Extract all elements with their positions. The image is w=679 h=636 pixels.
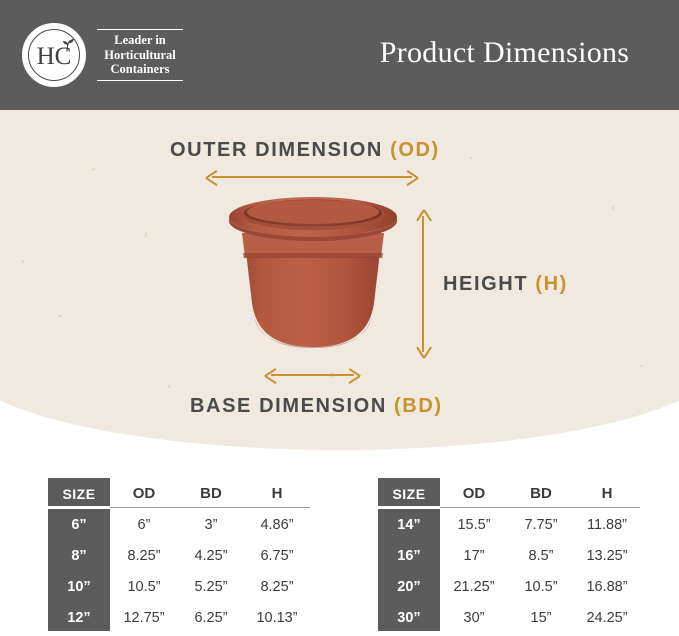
column-header-size: SIZE <box>378 478 440 509</box>
column-header-h: H <box>574 478 640 509</box>
table-cell-bd: 5.25” <box>178 571 244 602</box>
table-cell-h: 13.25” <box>574 540 640 571</box>
height-label: HEIGHT (H) <box>443 273 568 296</box>
size-column-header-rule <box>378 506 440 509</box>
table-cell-bd: 15” <box>508 602 574 633</box>
height-arrow <box>416 210 430 358</box>
header-bar: HC Leader in Horticultural Containers Pr… <box>0 0 679 110</box>
outer-dimension-arrow <box>206 170 418 184</box>
table-cell-od: 17” <box>440 540 508 571</box>
base-dimension-text: BASE DIMENSION <box>190 395 387 417</box>
logo-circle-icon: HC <box>22 23 86 87</box>
table-cell-od: 15.5” <box>440 509 508 540</box>
table-row: 6” <box>48 509 110 540</box>
planter-illustration <box>222 195 406 371</box>
table-row: 12” <box>48 602 110 633</box>
table-cell-h: 4.86” <box>244 509 310 540</box>
brand-logo: HC Leader in Horticultural Containers <box>22 22 192 88</box>
column-header-size: SIZE <box>48 478 110 509</box>
size-table-right: SIZE OD BD H 14” 15.5” 7.75” 11.88” 16” … <box>378 478 640 633</box>
logo-tagline-line-3: Containers <box>97 62 183 77</box>
table-cell-od: 6” <box>110 509 178 540</box>
table-header-rule <box>110 507 310 508</box>
size-column-header-rule <box>48 506 110 509</box>
table-cell-od: 12.75” <box>110 602 178 633</box>
column-header-bd: BD <box>508 478 574 509</box>
table-row: 16” <box>378 540 440 571</box>
logo-monogram: HC <box>24 44 84 69</box>
height-abbr: (H) <box>535 273 568 295</box>
table-cell-od: 10.5” <box>110 571 178 602</box>
table-cell-h: 6.75” <box>244 540 310 571</box>
height-text: HEIGHT <box>443 273 528 295</box>
logo-tagline-line-1: Leader in <box>97 33 183 48</box>
table-cell-bd: 6.25” <box>178 602 244 633</box>
base-dimension-abbr: (BD) <box>394 395 443 417</box>
table-grid: SIZE OD BD H 6” 6” 3” 4.86” 8” 8.25” 4.2… <box>48 478 310 633</box>
column-header-bd: BD <box>178 478 244 509</box>
table-cell-od: 30” <box>440 602 508 633</box>
table-cell-bd: 8.5” <box>508 540 574 571</box>
table-cell-h: 11.88” <box>574 509 640 540</box>
table-row: 14” <box>378 509 440 540</box>
table-cell-h: 16.88” <box>574 571 640 602</box>
table-cell-h: 10.13” <box>244 602 310 633</box>
table-row: 10” <box>48 571 110 602</box>
logo-tagline-line-2: Horticultural <box>97 48 183 63</box>
outer-dimension-label: OUTER DIMENSION (OD) <box>170 139 440 162</box>
table-cell-bd: 10.5” <box>508 571 574 602</box>
table-cell-h: 8.25” <box>244 571 310 602</box>
column-header-h: H <box>244 478 310 509</box>
table-row: 30” <box>378 602 440 633</box>
table-header-rule <box>440 507 640 508</box>
size-table-left: SIZE OD BD H 6” 6” 3” 4.86” 8” 8.25” 4.2… <box>48 478 310 633</box>
table-cell-bd: 7.75” <box>508 509 574 540</box>
base-dimension-label: BASE DIMENSION (BD) <box>190 395 443 418</box>
outer-dimension-text: OUTER DIMENSION <box>170 139 383 161</box>
table-cell-h: 24.25” <box>574 602 640 633</box>
column-header-od: OD <box>110 478 178 509</box>
outer-dimension-abbr: (OD) <box>390 139 440 161</box>
table-cell-od: 8.25” <box>110 540 178 571</box>
column-header-od: OD <box>440 478 508 509</box>
page-title: Product Dimensions <box>330 0 679 110</box>
table-grid: SIZE OD BD H 14” 15.5” 7.75” 11.88” 16” … <box>378 478 640 633</box>
table-row: 20” <box>378 571 440 602</box>
table-cell-bd: 3” <box>178 509 244 540</box>
dimension-diagram: OUTER DIMENSION (OD) HEIGHT (H) BASE DIM… <box>0 110 679 450</box>
table-cell-od: 21.25” <box>440 571 508 602</box>
logo-tagline: Leader in Horticultural Containers <box>97 29 183 81</box>
table-row: 8” <box>48 540 110 571</box>
table-cell-bd: 4.25” <box>178 540 244 571</box>
